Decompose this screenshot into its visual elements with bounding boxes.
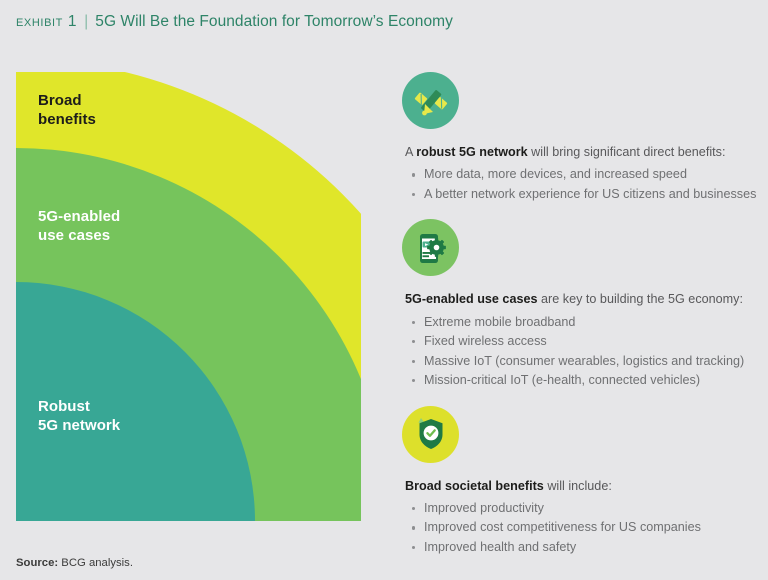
smartphone-gear-icon — [402, 219, 459, 276]
bullet-list: More data, more devices, and increased s… — [402, 165, 762, 204]
list-item: More data, more devices, and increased s… — [405, 165, 762, 185]
list-item: Improved cost competitiveness for US com… — [405, 518, 762, 538]
block-lead-text: 5G-enabled use cases are key to building… — [405, 290, 762, 308]
source-text: BCG analysis. — [58, 557, 133, 569]
lead-prefix: A — [405, 145, 416, 159]
lead-suffix: will bring significant direct benefits: — [528, 145, 726, 159]
chart-label-robust-network: Robust 5G network — [38, 398, 120, 436]
chart-label-broad-benefits: Broad benefits — [38, 92, 96, 130]
shield-check-icon — [402, 406, 459, 463]
content-block-robust-network: 5G A robust 5G network will bring signif… — [402, 72, 762, 204]
content-column: 5G A robust 5G network will bring signif… — [402, 72, 762, 557]
content-block-use-cases: 5G-enabled use cases are key to building… — [402, 219, 762, 390]
bullet-list: Extreme mobile broadband Fixed wireless … — [402, 313, 762, 391]
satellite-5g-icon: 5G — [402, 72, 459, 129]
chart-label-use-cases: 5G-enabled use cases — [38, 208, 120, 246]
lead-emphasis: Broad societal benefits — [405, 479, 544, 493]
concentric-arc-chart: Broad benefits 5G-enabled use cases Robu… — [16, 72, 361, 521]
source-label: Source: — [16, 557, 58, 569]
list-item: Extreme mobile broadband — [405, 313, 762, 333]
lead-suffix: will include: — [544, 479, 612, 493]
exhibit-header: Exhibit 1 | 5G Will Be the Foundation fo… — [16, 9, 752, 35]
list-item: Massive IoT (consumer wearables, logisti… — [405, 352, 762, 372]
lead-emphasis: 5G-enabled use cases — [405, 292, 538, 306]
exhibit-label: Exhibit 1 — [16, 13, 77, 31]
lead-emphasis: robust 5G network — [416, 145, 527, 159]
content-block-societal-benefits: Broad societal benefits will include: Im… — [402, 406, 762, 558]
source-note: Source: BCG analysis. — [16, 557, 133, 569]
bullet-list: Improved productivity Improved cost comp… — [402, 499, 762, 558]
page-title: 5G Will Be the Foundation for Tomorrow’s… — [95, 13, 453, 31]
title-divider: | — [84, 13, 88, 31]
list-item: A better network experience for US citiz… — [405, 185, 762, 205]
list-item: Mission-critical IoT (e-health, connecte… — [405, 371, 762, 391]
block-lead-text: Broad societal benefits will include: — [405, 477, 762, 495]
block-lead-text: A robust 5G network will bring significa… — [405, 143, 762, 161]
lead-suffix: are key to building the 5G economy: — [538, 292, 743, 306]
list-item: Improved productivity — [405, 499, 762, 519]
list-item: Fixed wireless access — [405, 332, 762, 352]
list-item: Improved health and safety — [405, 538, 762, 558]
